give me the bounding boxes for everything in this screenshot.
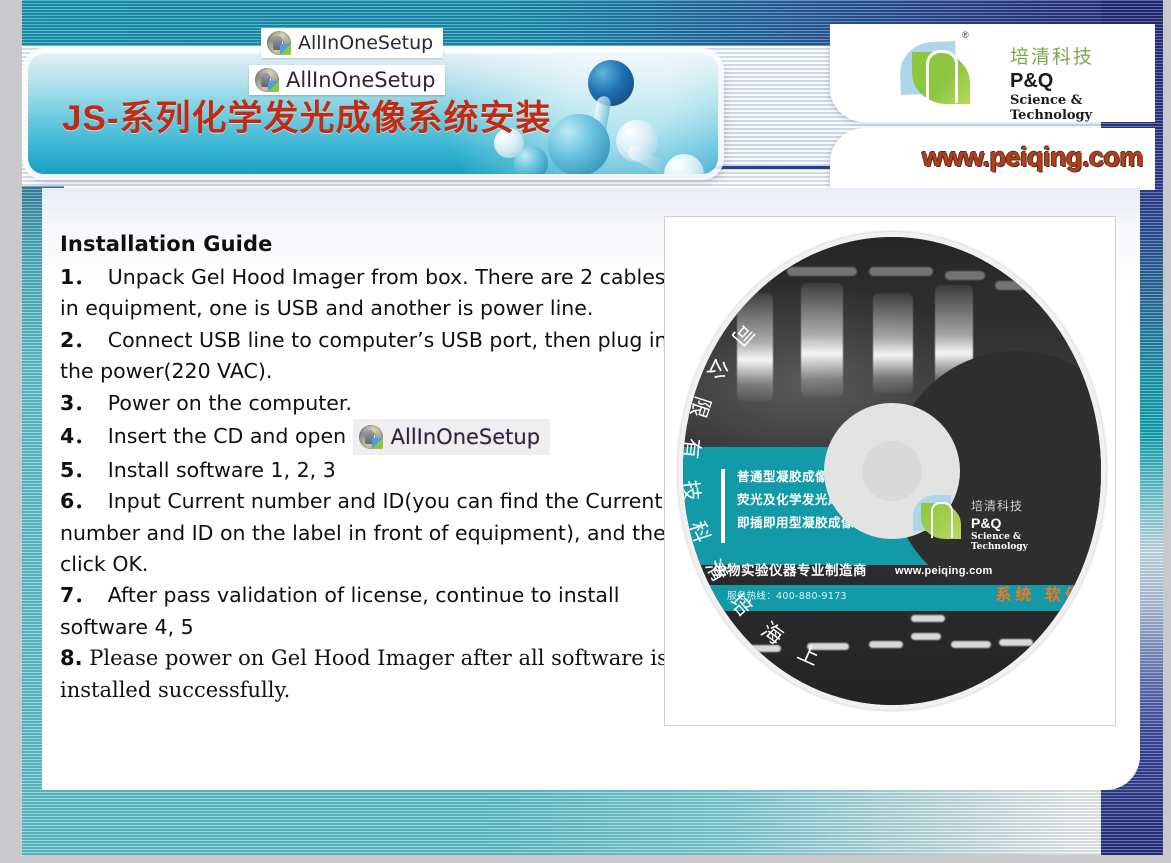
step-number: 4． [60, 424, 95, 448]
page-title: JS-系列化学发光成像系统安装 [62, 90, 551, 141]
registered-trademark-icon: ® [962, 30, 969, 40]
cd-disc-artwork: 上 海 培 清 科 技 有 限 公 司 普通型凝胶成像分析系统 [683, 237, 1101, 705]
allinonesetup-chip-top[interactable]: AllInOneSetup [261, 28, 443, 58]
step-text: Input Current number and ID(you can find… [60, 489, 679, 576]
website-url[interactable]: www.peiqing.com [922, 142, 1143, 173]
cd-brand-tagline: Science & Technology [971, 532, 1073, 552]
brand-tagline: Science & Technology [1010, 93, 1155, 123]
allinonesetup-chip-second[interactable]: AllInOneSetup [249, 65, 445, 95]
content-card: Installation Guide 1．Unpack Gel Hood Ima… [42, 188, 1140, 790]
cd-website-url: www.peiqing.com [895, 565, 993, 577]
page-margin-bottom [0, 855, 1171, 863]
step-text: Power on the computer. [108, 391, 352, 415]
step-number: 1． [60, 265, 95, 289]
allinonesetup-chip-inline[interactable]: AllInOneSetup [353, 419, 550, 455]
step-text: Unpack Gel Hood Imager from box. There a… [60, 265, 666, 320]
brand-name-cn: 培清科技 [1010, 42, 1094, 69]
guide-heading: Installation Guide [60, 228, 680, 260]
molecule-atom [548, 114, 610, 174]
step-number: 3． [60, 391, 95, 415]
guide-step-2: 2．Connect USB line to computer’s USB por… [60, 325, 680, 388]
cd-brand-logo: 培清科技 P&Q Science & Technology [913, 495, 1073, 555]
guide-step-3: 3．Power on the computer. [60, 388, 680, 419]
step-number: 2． [60, 328, 95, 352]
page-margin-left [0, 0, 22, 863]
guide-step-5: 5．Install software 1, 2, 3 [60, 455, 680, 486]
pq-leaf-logo-icon [900, 40, 972, 106]
cd-brand-en: P&Q [971, 515, 1001, 531]
step-text: After pass validation of license, contin… [60, 583, 619, 638]
step-text: Insert the CD and open [108, 424, 353, 448]
step-text: Please power on Gel Hood Imager after al… [60, 646, 668, 702]
step-number: 6． [60, 489, 95, 513]
step-text: Install software 1, 2, 3 [108, 458, 336, 482]
installation-guide: Installation Guide 1．Unpack Gel Hood Ima… [60, 228, 680, 706]
step-text: Connect USB line to computer’s USB port,… [60, 328, 668, 383]
cd-hotline: 服务热线：400-880-9173 [727, 588, 847, 602]
step-number: 7． [60, 583, 95, 607]
slide-canvas: JS-系列化学发光成像系统安装 ® 培清科技 P&Q Science & Tec… [0, 0, 1171, 863]
cd-setup-icon [267, 31, 291, 55]
cd-brand-cn: 培清科技 [971, 497, 1023, 514]
page-margin-right [1163, 0, 1171, 863]
molecule-atom [588, 60, 634, 106]
step-number: 8. [60, 646, 83, 670]
title-chinese: 系列化学发光成像系统安装 [119, 98, 551, 139]
allinonesetup-label: AllInOneSetup [286, 68, 435, 92]
guide-step-8: 8. Please power on Gel Hood Imager after… [60, 643, 680, 706]
cd-image-frame: 上 海 培 清 科 技 有 限 公 司 普通型凝胶成像分析系统 [664, 216, 1116, 726]
guide-step-7: 7．After pass validation of license, cont… [60, 580, 680, 643]
step-number: 5． [60, 458, 95, 482]
brand-logo-panel: ® 培清科技 P&Q Science & Technology [830, 24, 1155, 122]
cd-software-label: 系统 软件 [995, 581, 1085, 605]
allinonesetup-label: AllInOneSetup [298, 32, 433, 54]
title-prefix: JS- [62, 99, 119, 138]
guide-step-1: 1．Unpack Gel Hood Imager from box. There… [60, 262, 680, 325]
guide-step-6: 6．Input Current number and ID(you can fi… [60, 486, 680, 580]
molecule-atom [664, 154, 704, 174]
cd-setup-icon [359, 425, 383, 449]
website-panel[interactable]: www.peiqing.com [830, 128, 1155, 190]
guide-step-4: 4．Insert the CD and open AllInOneSetup [60, 419, 680, 455]
cd-center-hole [862, 441, 922, 501]
cd-maker-text: 生物实验仪器专业制造商 [713, 559, 867, 579]
allinonesetup-label: AllInOneSetup [391, 421, 540, 453]
brand-name-en: P&Q [1010, 70, 1053, 93]
cd-setup-icon [255, 68, 279, 92]
